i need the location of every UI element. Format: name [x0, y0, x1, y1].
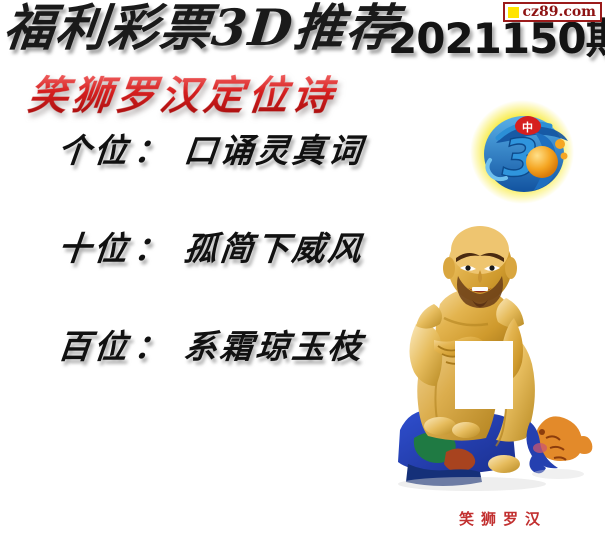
poem-line-hundreds: 百位：系霜琼玉枝 — [0, 328, 392, 366]
watermark-color-swatch-icon — [508, 7, 519, 18]
poem-verse-units: 口诵灵真词 — [182, 131, 366, 170]
poem-colon-units: ： — [132, 131, 172, 170]
lottery-prediction-poster: cz89.com 福利彩票3D推荐 2021150期 笑狮罗汉定位诗 个位：口诵… — [0, 0, 605, 533]
poem-position-hundreds: 百位 — [56, 327, 132, 366]
poem-colon-tens: ： — [132, 229, 172, 268]
poem-line-units: 个位：口诵灵真词 — [0, 132, 392, 170]
poem-verse-tens: 孤简下威风 — [182, 229, 366, 268]
positioning-poem: 个位：口诵灵真词 十位：孤简下威风 百位：系霜琼玉枝 — [0, 132, 390, 366]
poem-verse-hundreds: 系霜琼玉枝 — [182, 327, 366, 366]
poem-position-units: 个位 — [56, 131, 132, 170]
3d-logo-icon: 3 中 — [468, 98, 576, 206]
poem-position-tens: 十位 — [56, 229, 132, 268]
poem-line-tens: 十位：孤简下威风 — [0, 230, 392, 268]
issue-number: 2021150期 — [388, 18, 605, 60]
site-watermark: cz89.com — [503, 2, 602, 22]
poster-subtitle: 笑狮罗汉定位诗 — [25, 74, 338, 118]
white-cover-rectangle — [455, 341, 513, 409]
statue-caption: 笑狮罗汉 — [441, 512, 565, 527]
3d-lottery-logo: 3 中 — [468, 98, 576, 206]
poster-title: 福利彩票3D推荐 — [1, 2, 401, 55]
poem-colon-hundreds: ： — [132, 327, 172, 366]
svg-text:中: 中 — [522, 120, 533, 134]
watermark-site-label: cz89.com — [522, 5, 596, 19]
